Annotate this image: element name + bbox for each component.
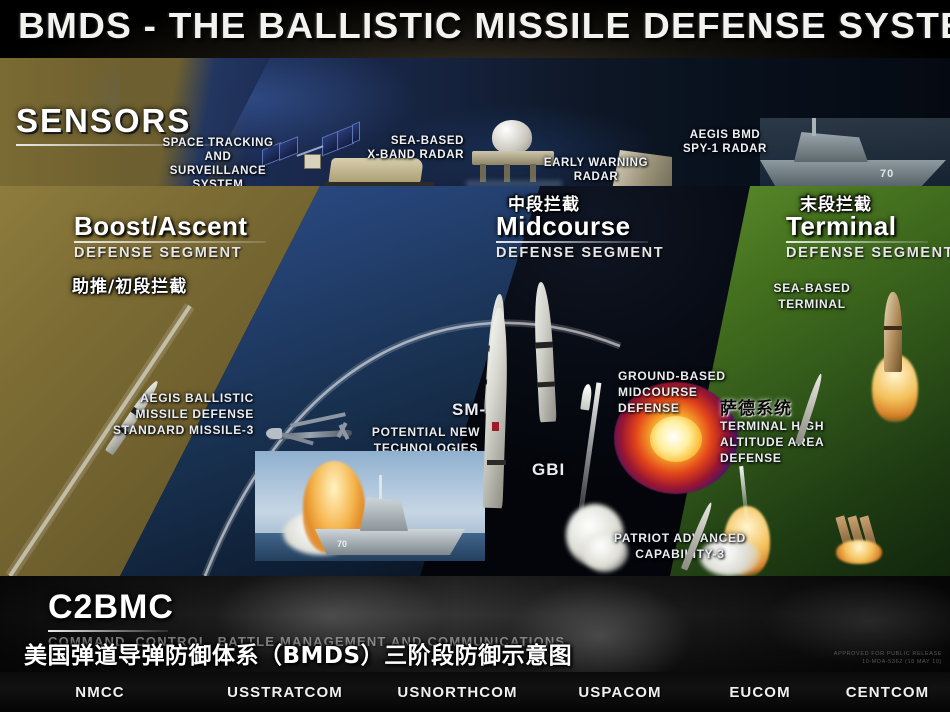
sensor-caption-aegis-line2: SPY-1 Radar (660, 142, 790, 156)
caption-abmd-line1: Aegis Ballistic (48, 390, 254, 406)
release-line-1: APPROVED FOR PUBLIC RELEASE (834, 650, 942, 658)
segment-midcourse-subtitle: Defense Segment (496, 245, 664, 261)
ship-hull-number: 70 (880, 168, 894, 180)
segment-header-midcourse: Midcourse Defense Segment (496, 212, 664, 261)
segment-boost-subtitle: Defense Segment (74, 245, 266, 261)
combatant-commands-footer: NMCC USSTRATCOM USNORTHCOM USPACOM EUCOM… (0, 672, 950, 712)
sensor-caption-sts-line2: Surveillance System (148, 164, 288, 186)
caption-thaad-line3: Defense (720, 450, 860, 466)
caption-pac3-line2: Capability-3 (600, 546, 760, 562)
segment-terminal-subtitle: Defense Segment (786, 245, 950, 261)
command-centcom[interactable]: CENTCOM (825, 684, 950, 701)
c2bmc-underline (48, 630, 168, 632)
page-title: BMDS - THE BALLISTIC MISSILE DEFENSE SYS… (18, 5, 950, 47)
caption-sea-based-terminal: Sea-Based Terminal (760, 280, 864, 312)
caption-thaad-line1: Terminal High (720, 418, 860, 434)
sea-based-terminal-photo (866, 292, 924, 422)
sensor-caption-aegis-line1: Aegis BMD (660, 128, 790, 142)
command-uspacom[interactable]: USPACOM (545, 684, 695, 701)
caption-sbt-line2: Terminal (760, 296, 864, 312)
command-eucom[interactable]: EUCOM (695, 684, 825, 701)
aegis-launch-photo: 70 (255, 451, 485, 561)
sensor-caption-ewr: Early Warning Radar (536, 156, 656, 184)
command-usnorthcom[interactable]: USNORTHCOM (370, 684, 545, 701)
sensor-caption-sbx: Sea-Based X-Band Radar (360, 134, 464, 162)
caption-aegis-bmd-sm3: Aegis Ballistic Missile Defense Standard… (48, 390, 254, 438)
segment-terminal-title: Terminal (786, 212, 950, 240)
gbi-marking-icon (492, 422, 499, 431)
segment-header-boost: Boost/Ascent Defense Segment (74, 212, 266, 261)
sensors-band: SENSORS Space Tracking and Surveillance … (0, 58, 950, 186)
caption-pnt-line1: Potential New (364, 424, 488, 440)
caption-thaad: Terminal High Altitude Area Defense (720, 418, 860, 466)
pac3-launcher-icon (834, 516, 890, 560)
caption-abmd-line3: Standard Missile-3 (48, 422, 254, 438)
title-bar: BMDS - THE BALLISTIC MISSILE DEFENSE SYS… (0, 0, 950, 58)
c2bmc-title: C2BMC (48, 588, 174, 627)
caption-pac3-line1: Patriot Advanced (600, 530, 760, 546)
sensor-caption-sts: Space Tracking and Surveillance System (148, 136, 288, 186)
c2bmc-band: C2BMC Command, Control, Battle Managemen… (0, 576, 950, 672)
caption-abmd-line2: Missile Defense (48, 406, 254, 422)
sensor-caption-sts-line1: Space Tracking and (148, 136, 288, 164)
caption-gmd-line1: Ground-based (618, 368, 748, 384)
segment-header-terminal: Terminal Defense Segment (786, 212, 950, 261)
bmds-infographic: BMDS - THE BALLISTIC MISSILE DEFENSE SYS… (0, 0, 950, 712)
sensor-caption-sbx-line2: X-Band Radar (360, 148, 464, 162)
uav-icon (264, 412, 356, 452)
sensor-caption-aegis: Aegis BMD SPY-1 Radar (660, 128, 790, 156)
release-line-2: 10-MDA-5362 (18 MAY 10) (834, 658, 942, 666)
gbi-band-icon (487, 460, 506, 465)
caption-sbt-line1: Sea-Based (760, 280, 864, 296)
defense-segments-arena: Boost/Ascent Defense Segment 助推/初段拦截 Pot… (0, 186, 950, 576)
aegis-scene-hull-number: 70 (337, 539, 347, 549)
sensor-caption-sbx-line1: Sea-Based (360, 134, 464, 148)
public-release-notice: APPROVED FOR PUBLIC RELEASE 10-MDA-5362 … (834, 650, 942, 666)
c2bmc-cn-caption: 美国弹道导弹防御体系（BMDS）三阶段防御示意图 (24, 636, 572, 670)
segment-midcourse-title: Midcourse (496, 212, 664, 240)
segment-boost-title: Boost/Ascent (74, 212, 266, 240)
caption-thaad-cn-tag: 萨德系统 (720, 394, 792, 419)
sensor-caption-ewr-line1: Early Warning (536, 156, 656, 170)
sensors-label: SENSORS (16, 102, 191, 140)
segment-boost-cn-tag: 助推/初段拦截 (72, 272, 187, 297)
command-usstratcom[interactable]: USSTRATCOM (200, 684, 370, 701)
caption-thaad-line2: Altitude Area (720, 434, 860, 450)
caption-pac3: Patriot Advanced Capability-3 (600, 530, 760, 562)
command-nmcc[interactable]: NMCC (0, 684, 200, 701)
sensor-caption-ewr-line2: Radar (536, 170, 656, 184)
